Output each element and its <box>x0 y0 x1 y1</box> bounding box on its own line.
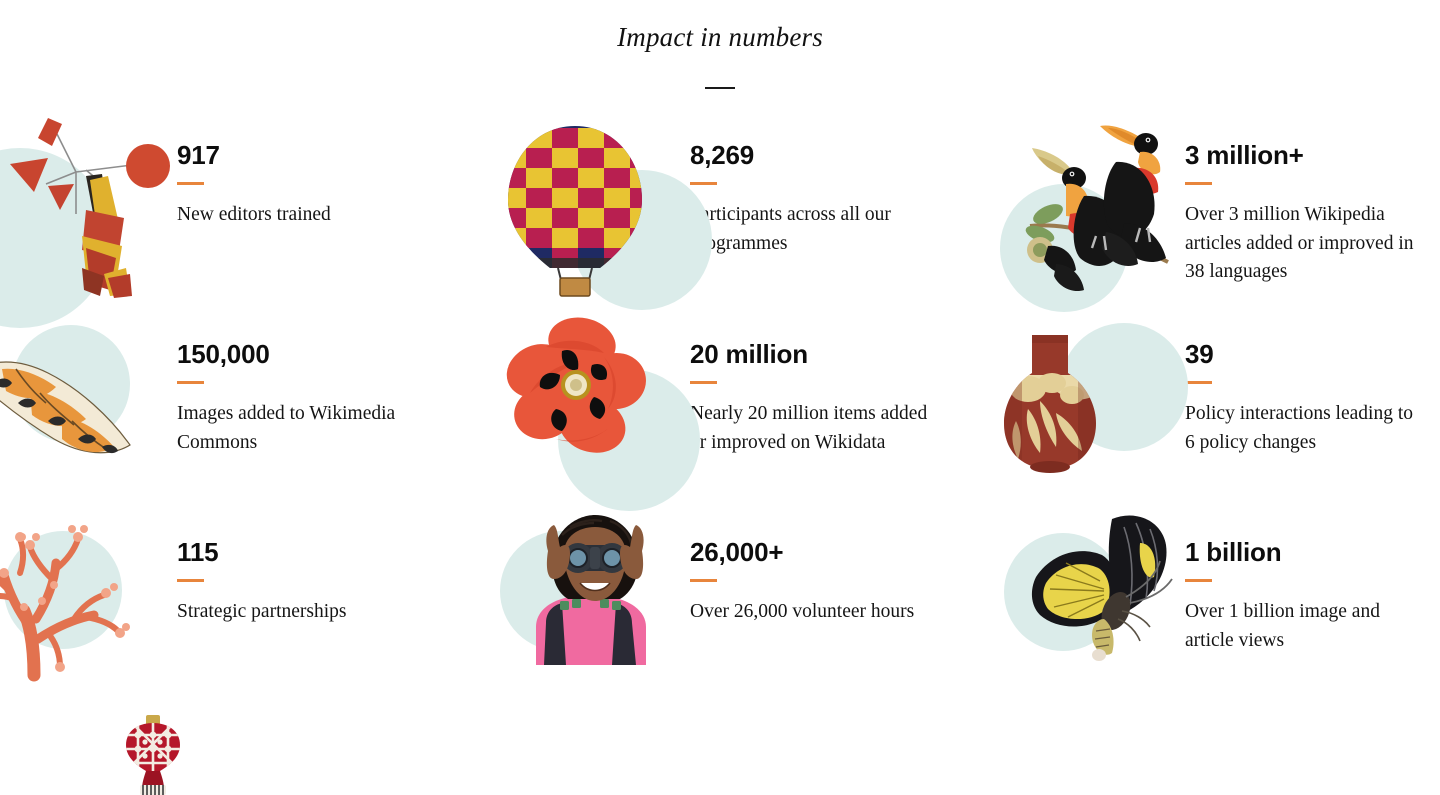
stat-description: Policy interactions leading to 6 policy … <box>1185 400 1413 457</box>
stat-accent-rule <box>690 579 717 582</box>
stat-text: 917 New editors trained <box>168 118 500 230</box>
stats-row: 917 New editors trained <box>0 118 1440 317</box>
stat-number: 8,269 <box>690 140 1000 170</box>
stat-text: 8,269 Participants across all our progra… <box>690 118 1000 258</box>
seashell-icon <box>0 317 168 515</box>
stat-text: 115 Strategic partnerships <box>168 515 500 627</box>
stat-card-wikipedia-articles: 3 million+ Over 3 million Wikipedia arti… <box>1000 118 1440 317</box>
stat-text: 39 Policy interactions leading to 6 poli… <box>1185 317 1440 457</box>
page-title: Impact in numbers <box>0 18 1440 56</box>
title-divider <box>705 87 735 89</box>
stat-description: Over 26,000 volunteer hours <box>690 598 918 627</box>
stat-text: 20 million Nearly 20 million items added… <box>690 317 1000 457</box>
page-header: Impact in numbers <box>0 0 1440 89</box>
stat-description: Over 3 million Wikipedia articles added … <box>1185 201 1429 287</box>
stat-number: 115 <box>177 537 500 567</box>
stat-text: 26,000+ Over 26,000 volunteer hours <box>690 515 1000 627</box>
red-poppy-flower-icon <box>500 317 690 515</box>
stats-grid: 917 New editors trained <box>0 118 1440 685</box>
stat-text: 1 billion Over 1 billion image and artic… <box>1185 515 1440 655</box>
stat-number: 3 million+ <box>1185 140 1440 170</box>
stat-accent-rule <box>177 579 204 582</box>
coral-branch-icon <box>0 515 168 685</box>
stats-row: 150,000 Images added to Wikimedia Common… <box>0 317 1440 515</box>
hot-air-balloon-icon <box>500 118 690 317</box>
ceramic-vase-icon <box>1000 317 1185 515</box>
birdwing-butterfly-icon <box>1000 515 1185 685</box>
stat-accent-rule <box>690 381 717 384</box>
stat-card-new-editors-trained: 917 New editors trained <box>0 118 500 317</box>
stat-text: 3 million+ Over 3 million Wikipedia arti… <box>1185 118 1440 287</box>
stat-card-volunteer-hours: 26,000+ Over 26,000 volunteer hours <box>500 515 1000 685</box>
stat-card-strategic-partnerships: 115 Strategic partnerships <box>0 515 500 685</box>
stat-card-policy-interactions: 39 Policy interactions leading to 6 poli… <box>1000 317 1440 515</box>
stat-text: 150,000 Images added to Wikimedia Common… <box>168 317 500 457</box>
stat-accent-rule <box>177 182 204 185</box>
stat-description: Nearly 20 million items added or improve… <box>690 400 934 457</box>
stat-number: 20 million <box>690 339 1000 369</box>
kinetic-mobile-sculpture-icon <box>0 118 168 317</box>
stat-description: New editors trained <box>177 201 405 230</box>
stat-description: Strategic partnerships <box>177 598 405 627</box>
stat-accent-rule <box>1185 579 1212 582</box>
stat-description: Participants across all our programmes <box>690 201 918 258</box>
stat-card-participants: 8,269 Participants across all our progra… <box>500 118 1000 317</box>
cut-glass-vessel-icon <box>108 715 198 795</box>
stat-description: Over 1 billion image and article views <box>1185 598 1413 655</box>
stat-accent-rule <box>1185 182 1212 185</box>
stat-card-image-article-views: 1 billion Over 1 billion image and artic… <box>1000 515 1440 685</box>
stat-card-wikidata-items: 20 million Nearly 20 million items added… <box>500 317 1000 515</box>
stat-accent-rule <box>690 182 717 185</box>
stat-number: 39 <box>1185 339 1440 369</box>
stat-accent-rule <box>1185 381 1212 384</box>
stat-card-images-added: 150,000 Images added to Wikimedia Common… <box>0 317 500 515</box>
stat-description: Images added to Wikimedia Commons <box>177 400 405 457</box>
stat-number: 26,000+ <box>690 537 1000 567</box>
stat-accent-rule <box>177 381 204 384</box>
stat-number: 1 billion <box>1185 537 1440 567</box>
stats-row: 115 Strategic partnerships <box>0 515 1440 685</box>
toucan-birds-icon <box>1000 118 1185 317</box>
stat-number: 150,000 <box>177 339 500 369</box>
girl-with-binoculars-icon <box>500 515 690 685</box>
stat-number: 917 <box>177 140 500 170</box>
